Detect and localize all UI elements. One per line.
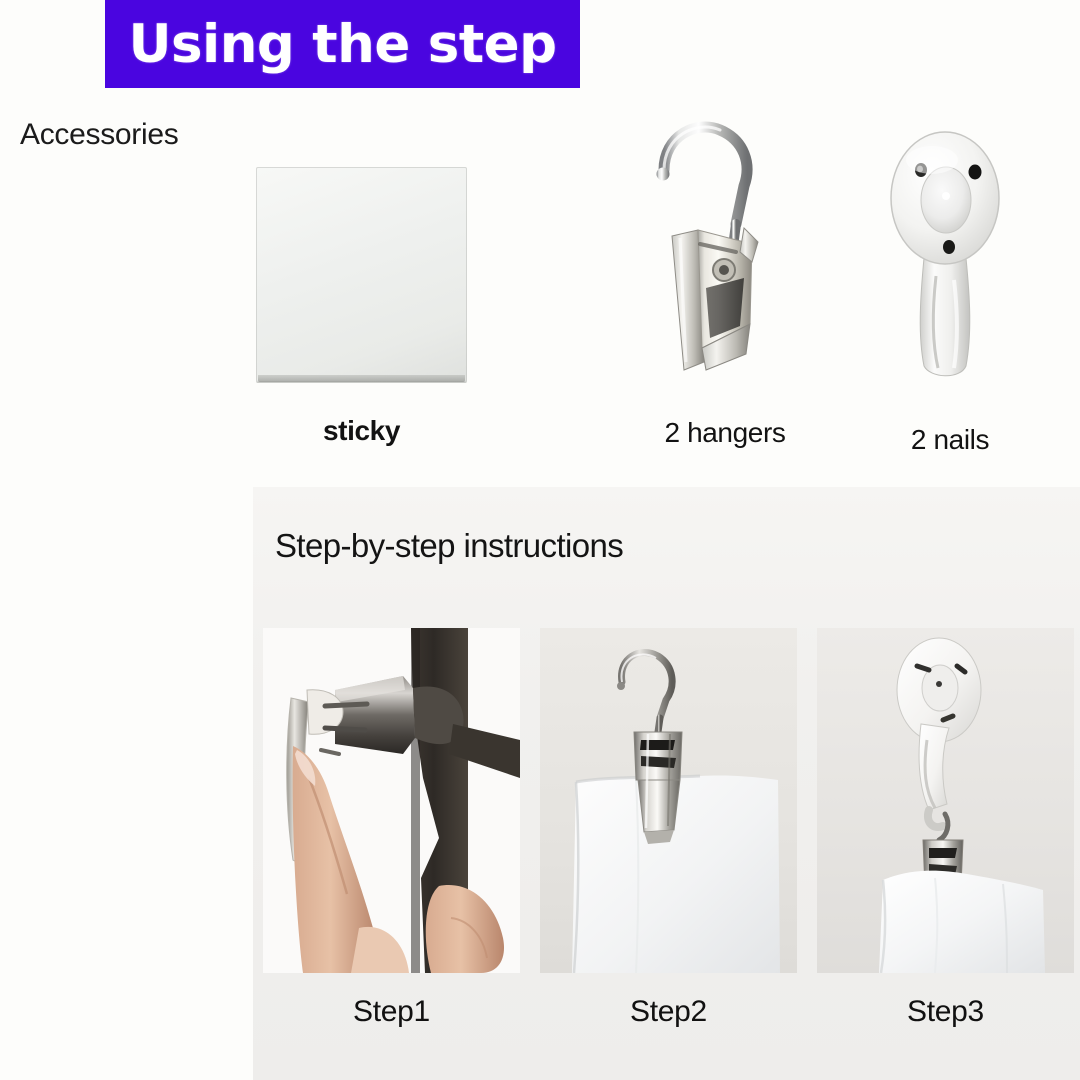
accessory-wall-hook	[880, 130, 1015, 382]
page-title: Using the step	[128, 18, 556, 71]
step-caption-2: Step2	[540, 995, 797, 1029]
accessory-label-sticky: sticky	[256, 415, 467, 447]
step-photo-hook-with-clip	[817, 628, 1074, 973]
adhesive-square-icon	[256, 167, 467, 382]
step-cell-2: Step2	[540, 628, 797, 973]
step-cell-3: Step3	[817, 628, 1074, 973]
accessory-hanger-clip	[640, 112, 805, 382]
step-by-step-panel: Step-by-step instructions	[253, 487, 1080, 1080]
step-cell-1: Step1	[263, 628, 520, 973]
step-caption-1: Step1	[263, 995, 520, 1029]
step-photo-hammering-nail	[263, 628, 520, 973]
accessory-label-nails: 2 nails	[865, 424, 1035, 456]
accessory-label-hangers: 2 hangers	[630, 417, 820, 449]
steps-heading: Step-by-step instructions	[275, 527, 623, 565]
accessory-sticky-pad	[256, 167, 467, 382]
white-wall-hook-icon	[880, 130, 1015, 382]
step-photo-clip-on-cloth	[540, 628, 797, 973]
metal-hook-clip-icon	[640, 112, 805, 382]
step-caption-3: Step3	[817, 995, 1074, 1029]
accessories-section-label: Accessories	[20, 118, 178, 152]
steps-row: Step1	[263, 628, 1075, 973]
title-banner: Using the step	[105, 0, 580, 88]
